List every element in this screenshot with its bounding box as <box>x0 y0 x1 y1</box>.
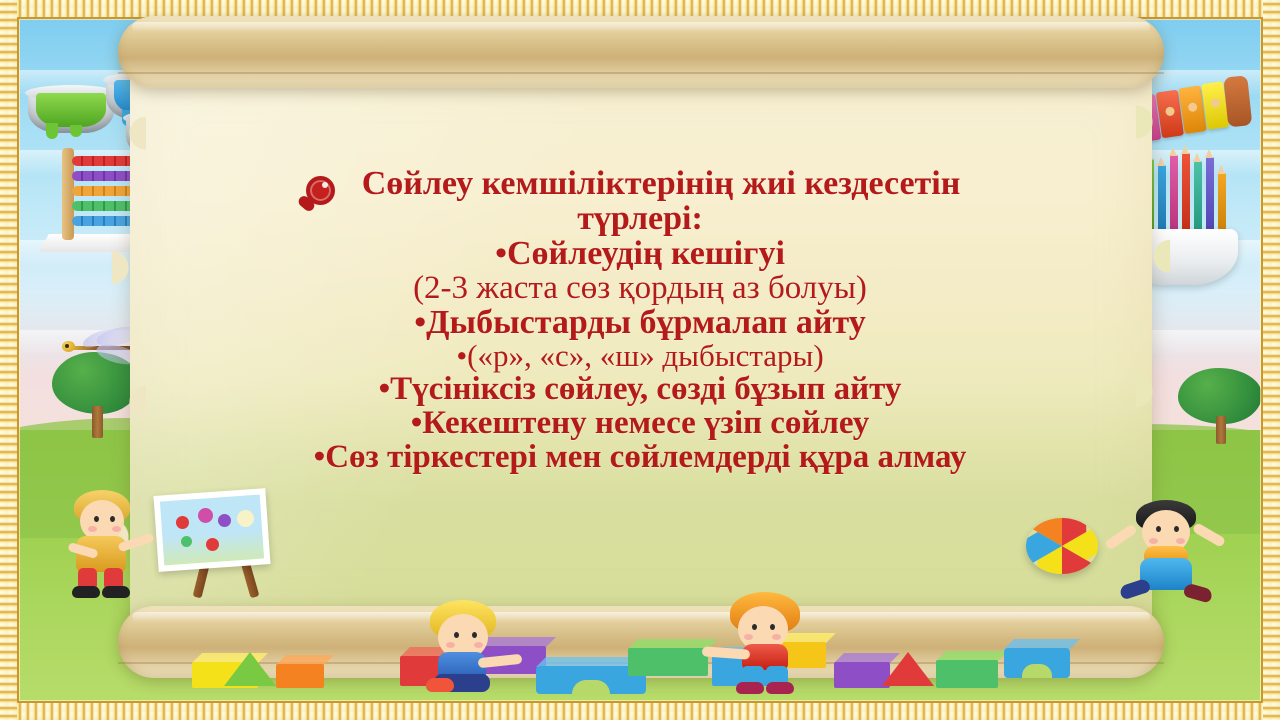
block-arch-hole-2 <box>1022 664 1052 678</box>
slide-canvas: Сөйлеу кемшіліктерінің жиі кездесетін тү… <box>0 0 1280 720</box>
kid-painter-group <box>48 486 288 596</box>
slide-line-8: •Кекештену немесе үзіп сөйлеу <box>260 406 1020 440</box>
block-orange <box>276 664 324 688</box>
slide-line-7: •Түсініксіз сөйлеу, сөзді бұзып айту <box>260 372 1020 406</box>
kid-jumping <box>1118 500 1230 600</box>
block-arch-hole <box>572 680 610 696</box>
slide-line-4: (2-3 жаста сөз қордың аз болуы) <box>260 271 1020 305</box>
slide-line-1: Сөйлеу кемшіліктерінің жиі кездесетін <box>260 166 1020 201</box>
kid-red-blocks <box>708 592 818 692</box>
block-triangle-green <box>224 652 276 686</box>
slide-line-5: •Дыбыстарды бұрмалап айту <box>260 305 1020 340</box>
block-green-2 <box>936 660 998 688</box>
blocks-scene <box>176 628 1104 718</box>
block-triangle-red <box>882 652 934 686</box>
beach-ball <box>1026 518 1098 574</box>
tree-right <box>1178 368 1264 444</box>
magnifier-icon <box>298 176 348 216</box>
block-green <box>628 648 708 676</box>
slide-text-block: Сөйлеу кемшіліктерінің жиі кездесетін тү… <box>260 166 1020 474</box>
slide-line-3: •Сөйлеудің кешігуі <box>260 236 1020 271</box>
slide-line-2: түрлері: <box>260 201 1020 236</box>
slide-line-6: •(«р», «с», «ш» дыбыстары) <box>260 340 1020 372</box>
kid-painter <box>62 490 154 596</box>
scroll-roll-top <box>118 16 1164 88</box>
kid-blue-blocks <box>424 600 534 692</box>
slide-line-9: •Сөз тіркестері мен сөйлемдерді құра алм… <box>260 440 1020 474</box>
paint-bucket-green <box>28 85 114 137</box>
